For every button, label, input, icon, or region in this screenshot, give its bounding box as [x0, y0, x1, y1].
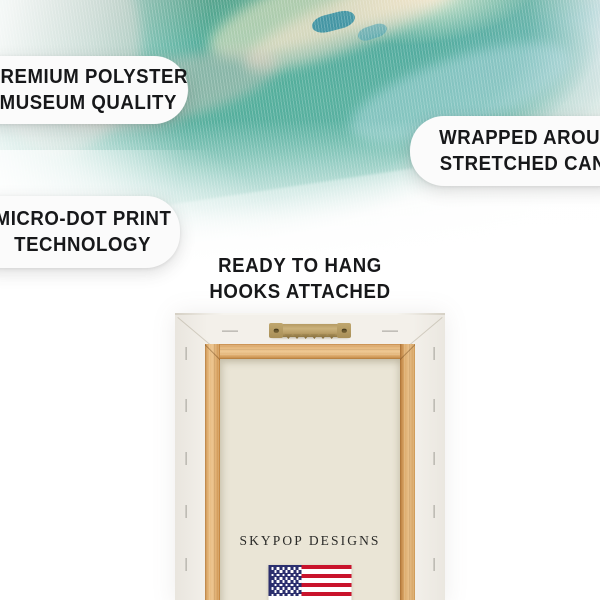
- staple: [433, 558, 435, 571]
- flag-star: [282, 574, 285, 577]
- canvas-corner-fold-top-left: [177, 317, 213, 347]
- flag-star: [277, 580, 280, 583]
- stretcher-bar-left: [205, 344, 220, 600]
- flag-star: [299, 567, 302, 570]
- flag-star: [291, 584, 294, 587]
- flag-star: [296, 570, 299, 573]
- staple: [185, 347, 187, 360]
- flag-star: [291, 570, 294, 573]
- flag-star: [282, 567, 285, 570]
- hanger-screw-plate-right: [337, 323, 351, 338]
- flag-star: [271, 567, 274, 570]
- staple: [433, 347, 435, 360]
- flag-star: [285, 570, 288, 573]
- flag-star: [280, 570, 283, 573]
- hanger-screw-plate-left: [269, 323, 283, 338]
- flag-star: [274, 590, 277, 593]
- brand-label: SKYPOP DESIGNS: [220, 533, 400, 549]
- staple: [185, 399, 187, 412]
- flag-star: [271, 574, 274, 577]
- flag-star: [299, 580, 302, 583]
- flag-star: [288, 594, 291, 597]
- feature-pill-line1: MICRO-DOT PRINT: [0, 206, 171, 232]
- flag-star: [293, 587, 296, 590]
- flag-star: [285, 577, 288, 580]
- canvas-back-photo: SKYPOP DESIGNS: [175, 313, 445, 600]
- flag-star: [288, 574, 291, 577]
- flag-star: [293, 594, 296, 597]
- flag-star: [282, 594, 285, 597]
- flag-star: [277, 587, 280, 590]
- flag-star: [285, 590, 288, 593]
- flag-star: [280, 584, 283, 587]
- flag-star: [293, 574, 296, 577]
- product-infographic: PREMIUM POLYSTER MUSEUM QUALITY WRAPPED …: [0, 0, 600, 600]
- flag-star: [271, 580, 274, 583]
- flag-star: [271, 594, 274, 597]
- flag-star: [282, 587, 285, 590]
- flag-star: [291, 577, 294, 580]
- feature-pill-line2: MUSEUM QUALITY: [0, 90, 177, 116]
- feature-pill-line1: PREMIUM POLYSTER: [0, 64, 188, 90]
- flag-star: [280, 577, 283, 580]
- staple: [433, 452, 435, 465]
- flag-star: [299, 594, 302, 597]
- staple: [185, 505, 187, 518]
- flag-star: [274, 570, 277, 573]
- staple: [222, 330, 238, 332]
- ready-heading-line2: HOOKS ATTACHED: [21, 279, 579, 305]
- feature-pill-premium-polyster: PREMIUM POLYSTER MUSEUM QUALITY: [0, 56, 188, 124]
- feature-pill-line1: WRAPPED AROUND: [439, 125, 600, 151]
- canvas-back-panel: SKYPOP DESIGNS: [220, 359, 400, 600]
- staple: [382, 330, 398, 332]
- flag-star: [274, 577, 277, 580]
- flag-star: [291, 590, 294, 593]
- flag-star: [288, 587, 291, 590]
- flag-star: [280, 590, 283, 593]
- flag-star: [277, 574, 280, 577]
- flag-star: [277, 567, 280, 570]
- ready-to-hang-heading: READY TO HANG HOOKS ATTACHED: [0, 253, 600, 305]
- ready-heading-line1: READY TO HANG: [21, 253, 579, 279]
- flag-star: [277, 594, 280, 597]
- wooden-stretcher-frame: SKYPOP DESIGNS: [205, 344, 415, 600]
- flag-stars: [269, 565, 302, 596]
- flag-star: [288, 580, 291, 583]
- canvas-corner-fold-top-right: [407, 317, 443, 347]
- canvas-top-edge: [175, 313, 445, 315]
- staple: [433, 505, 435, 518]
- hanger-teeth: [284, 334, 336, 339]
- flag-star: [285, 584, 288, 587]
- flag-star: [299, 587, 302, 590]
- flag-star: [288, 567, 291, 570]
- flag-star: [296, 584, 299, 587]
- flag-star: [296, 590, 299, 593]
- screw-hole-icon: [342, 328, 347, 333]
- staple: [185, 558, 187, 571]
- staple: [185, 452, 187, 465]
- flag-canton: [269, 565, 302, 596]
- flag-star: [296, 577, 299, 580]
- flag-star: [293, 567, 296, 570]
- screw-hole-icon: [274, 328, 279, 333]
- flag-stripe: [269, 596, 352, 600]
- flag-star: [282, 580, 285, 583]
- stretcher-bar-right: [400, 344, 415, 600]
- sawtooth-hanger: [271, 324, 349, 337]
- flag-star: [271, 587, 274, 590]
- feature-pill-line2: STRETCHED CANVAS: [440, 151, 600, 177]
- flag-star: [293, 580, 296, 583]
- feature-pill-wrapped-around: WRAPPED AROUND STRETCHED CANVAS: [410, 116, 600, 186]
- stretcher-bar-top: [205, 344, 415, 359]
- united-states-flag-icon: [269, 565, 352, 600]
- flag-star: [299, 574, 302, 577]
- flag-star: [274, 584, 277, 587]
- staple: [433, 399, 435, 412]
